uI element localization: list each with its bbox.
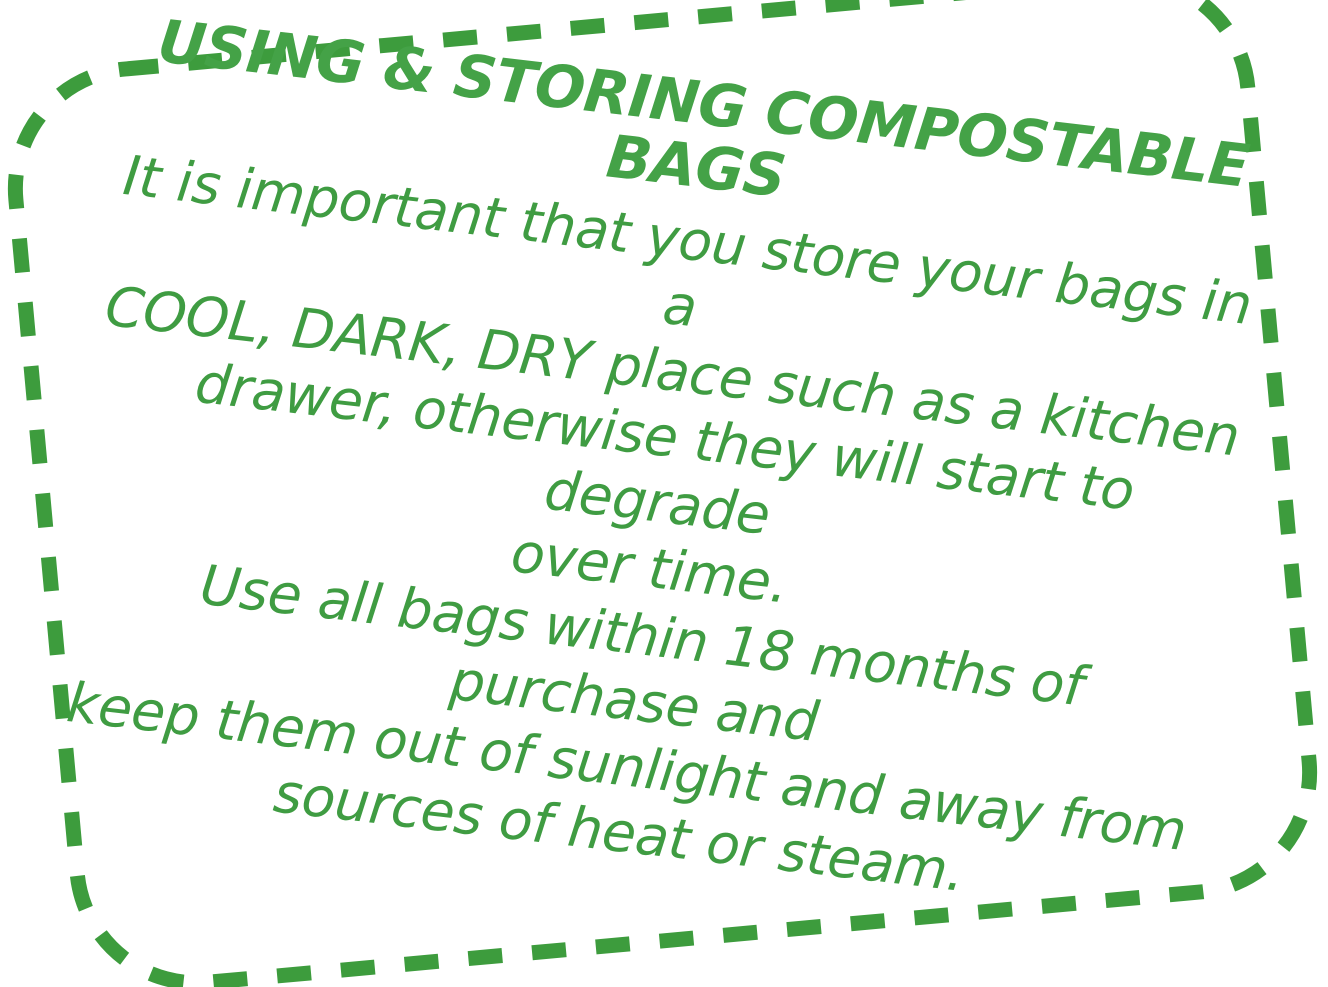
- label-text-block: USING & STORING COMPOSTABLE BAGS It is i…: [47, 6, 1276, 931]
- compostable-bags-label-card: USING & STORING COMPOSTABLE BAGS It is i…: [0, 0, 1328, 987]
